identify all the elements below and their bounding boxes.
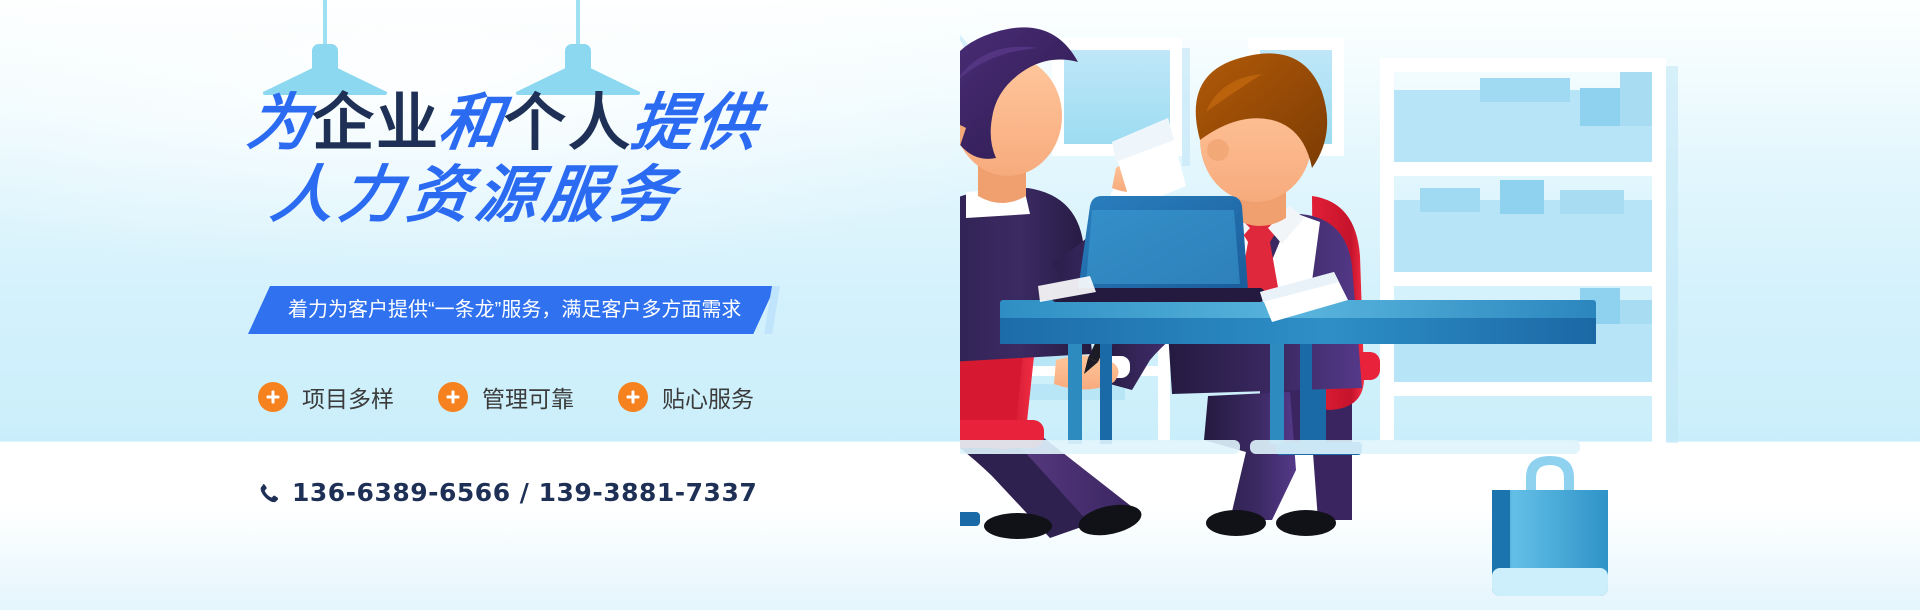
phone-number: 136-6389-6566 / 139-3881-7337 (292, 478, 757, 507)
feature-item-1[interactable]: 项目多样 (258, 380, 394, 414)
subtitle-ribbon: 着力为客户提供“一条龙”服务，满足客户多方面需求 (248, 286, 775, 334)
office-illustration (960, 0, 1920, 610)
headline-line-1: 为企业和个人提供 (248, 92, 968, 154)
feature-item-3[interactable]: 贴心服务 (618, 380, 754, 414)
feature-label-1: 项目多样 (302, 380, 394, 414)
plus-icon (258, 382, 288, 412)
headline-seg-5: 提供 (628, 92, 765, 154)
phone-icon (256, 481, 278, 505)
books-row-2 (1394, 180, 1652, 272)
lamp-cord (576, 0, 580, 46)
hero-banner: 为企业和个人提供 人力资源服务 着力为客户提供“一条龙”服务，满足客户多方面需求… (0, 0, 1920, 610)
headline-seg-1: 为 (244, 92, 317, 154)
feature-item-2[interactable]: 管理可靠 (438, 380, 574, 414)
feature-list: 项目多样 管理可靠 贴心服务 (258, 380, 754, 414)
headline-line-2: 人力资源服务 (272, 164, 968, 226)
books-row-1 (1394, 72, 1652, 162)
plus-icon (618, 382, 648, 412)
headline-seg-2: 企业 (312, 92, 440, 154)
hero-text-block: 为企业和个人提供 人力资源服务 (248, 92, 968, 226)
lamp-cord (323, 0, 327, 46)
headline: 为企业和个人提供 人力资源服务 (248, 92, 968, 226)
feature-label-3: 贴心服务 (662, 380, 754, 414)
plus-icon (438, 382, 468, 412)
bookshelf (1380, 58, 1678, 446)
headline-seg-3: 和 (436, 92, 509, 154)
contact-phone[interactable]: 136-6389-6566 / 139-3881-7337 (256, 478, 757, 507)
headline-line-2-text: 人力资源服务 (268, 164, 685, 226)
feature-label-2: 管理可靠 (482, 380, 574, 414)
headline-seg-4: 个人 (504, 92, 632, 154)
briefcase (1492, 456, 1608, 596)
